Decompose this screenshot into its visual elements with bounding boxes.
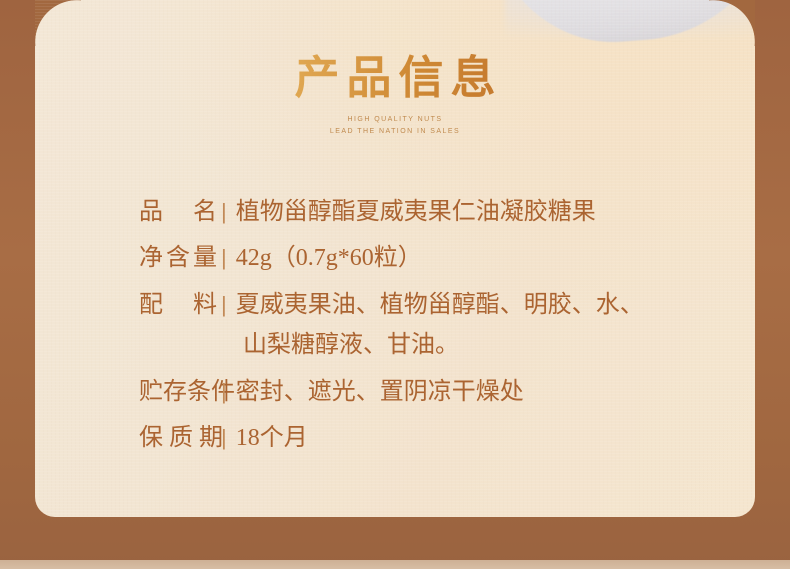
subtitle-line-1: HIGH QUALITY NUTS (348, 115, 443, 125)
info-label: 净含量 (139, 243, 217, 273)
info-separator: | (217, 198, 236, 226)
info-value: 18个月 (236, 423, 308, 453)
info-value-continuation: 山梨糖醇液、甘油。 (139, 330, 715, 360)
info-label: 贮存条件 (139, 377, 217, 407)
info-row-shelf-life: 保 质 期 | 18个月 (139, 423, 715, 453)
info-separator: | (217, 378, 236, 406)
header-block: 产品信息 HIGH QUALITY NUTS LEAD THE NATION I… (35, 54, 755, 137)
info-separator: | (217, 291, 236, 319)
subtitle-line-2: LEAD THE NATION IN SALES (330, 127, 460, 137)
info-row-product-name: 品 名 | 植物甾醇酯夏威夷果仁油凝胶糖果 (139, 197, 715, 227)
info-label: 保 质 期 (139, 423, 217, 453)
bottom-strip (0, 560, 790, 569)
subtitle-block: HIGH QUALITY NUTS LEAD THE NATION IN SAL… (35, 115, 755, 137)
product-info-list: 品 名 | 植物甾醇酯夏威夷果仁油凝胶糖果 净含量 | 42g（0.7g*60粒… (139, 197, 715, 470)
info-label: 配 料 (139, 290, 217, 320)
info-card: 产品信息 HIGH QUALITY NUTS LEAD THE NATION I… (35, 0, 755, 517)
product-info-page: 产品信息 HIGH QUALITY NUTS LEAD THE NATION I… (0, 0, 790, 569)
info-label: 品 名 (139, 197, 217, 227)
info-separator: | (217, 244, 236, 272)
info-separator: | (217, 424, 236, 452)
info-value: 夏威夷果油、植物甾醇酯、明胶、水、 (236, 290, 644, 320)
info-row-ingredients: 配 料 | 夏威夷果油、植物甾醇酯、明胶、水、 (139, 290, 715, 320)
info-value: 密封、遮光、置阴凉干燥处 (236, 377, 524, 407)
product-photo-bleed-shadow (505, 0, 755, 38)
info-row-storage: 贮存条件 | 密封、遮光、置阴凉干燥处 (139, 377, 715, 407)
info-row-net-content: 净含量 | 42g（0.7g*60粒） (139, 243, 715, 273)
info-value: 植物甾醇酯夏威夷果仁油凝胶糖果 (236, 197, 596, 227)
info-value: 42g（0.7g*60粒） (236, 243, 422, 273)
page-title: 产品信息 (35, 54, 755, 102)
